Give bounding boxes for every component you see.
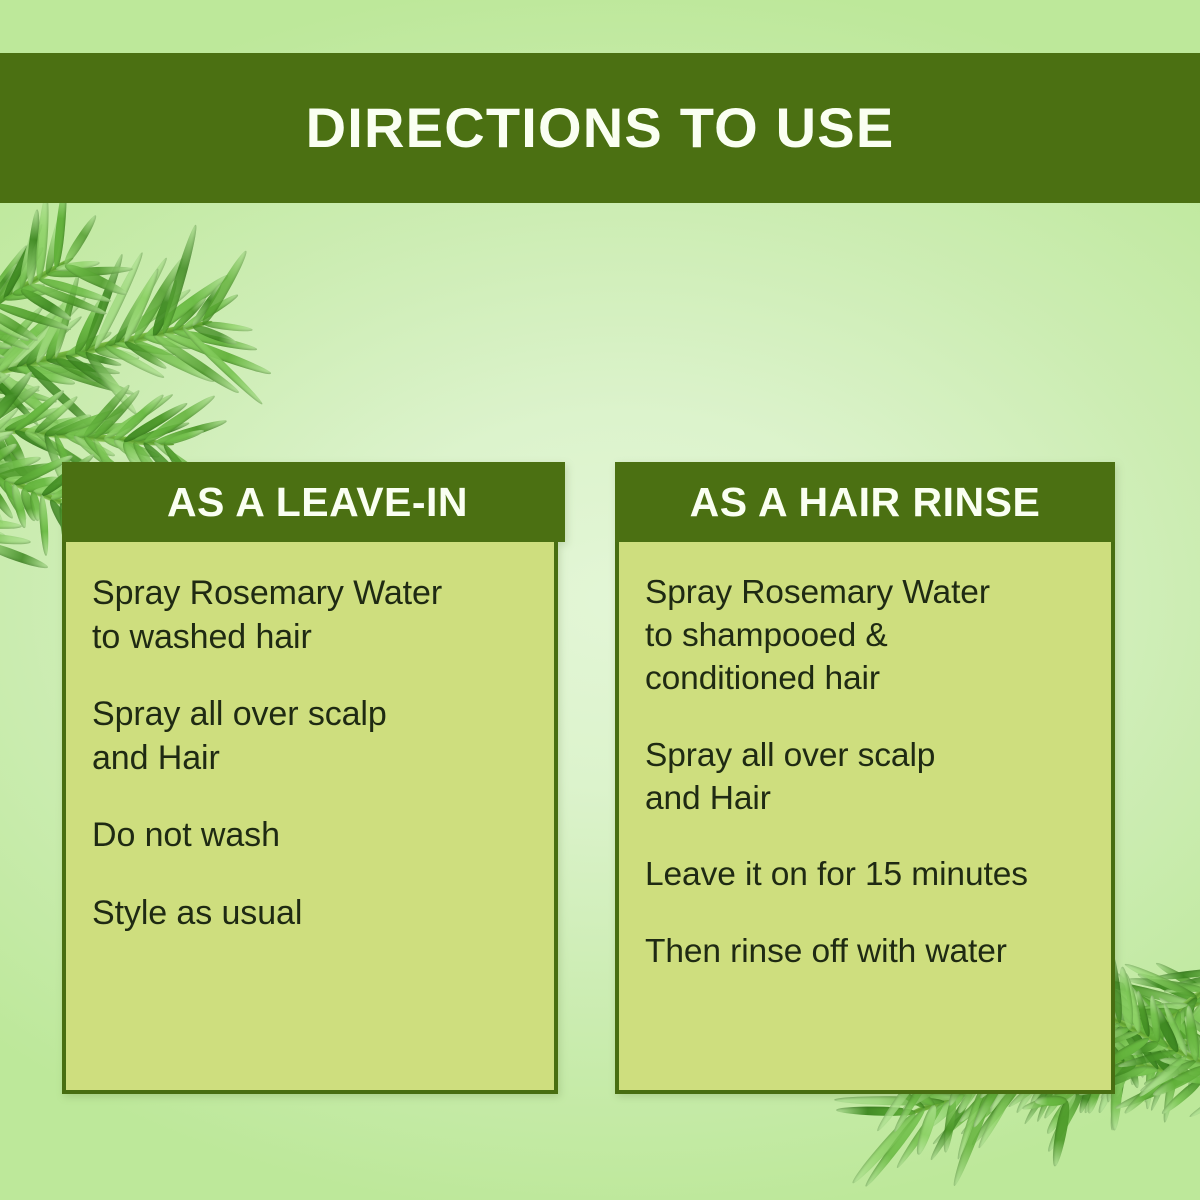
list-item: Spray all over scalp and Hair <box>92 693 554 780</box>
card-leave-in-title: AS A LEAVE-IN <box>167 482 468 523</box>
card-hair-rinse-body: Spray Rosemary Water to shampooed & cond… <box>615 542 1115 1094</box>
card-hair-rinse-header: AS A HAIR RINSE <box>615 462 1115 542</box>
cards-container: AS A LEAVE-IN Spray Rosemary Water to wa… <box>0 462 1200 1102</box>
list-item: Spray Rosemary Water to shampooed & cond… <box>645 572 1111 701</box>
card-hair-rinse: AS A HAIR RINSE Spray Rosemary Water to … <box>615 462 1115 1094</box>
list-item: Spray all over scalp and Hair <box>645 735 1111 821</box>
card-leave-in: AS A LEAVE-IN Spray Rosemary Water to wa… <box>62 462 565 1094</box>
list-item: Style as usual <box>92 892 554 936</box>
page-title: DIRECTIONS TO USE <box>306 100 895 156</box>
card-leave-in-header: AS A LEAVE-IN <box>62 462 565 542</box>
card-hair-rinse-title: AS A HAIR RINSE <box>690 482 1041 523</box>
list-item: Then rinse off with water <box>645 931 1111 974</box>
list-item: Leave it on for 15 minutes <box>645 854 1111 897</box>
header-banner: DIRECTIONS TO USE <box>0 53 1200 203</box>
card-leave-in-body: Spray Rosemary Water to washed hair Spra… <box>62 542 558 1094</box>
list-item: Spray Rosemary Water to washed hair <box>92 572 554 659</box>
list-item: Do not wash <box>92 814 554 858</box>
poster-canvas: DIRECTIONS TO USE AS A LEAVE-IN Spray Ro… <box>0 0 1200 1200</box>
